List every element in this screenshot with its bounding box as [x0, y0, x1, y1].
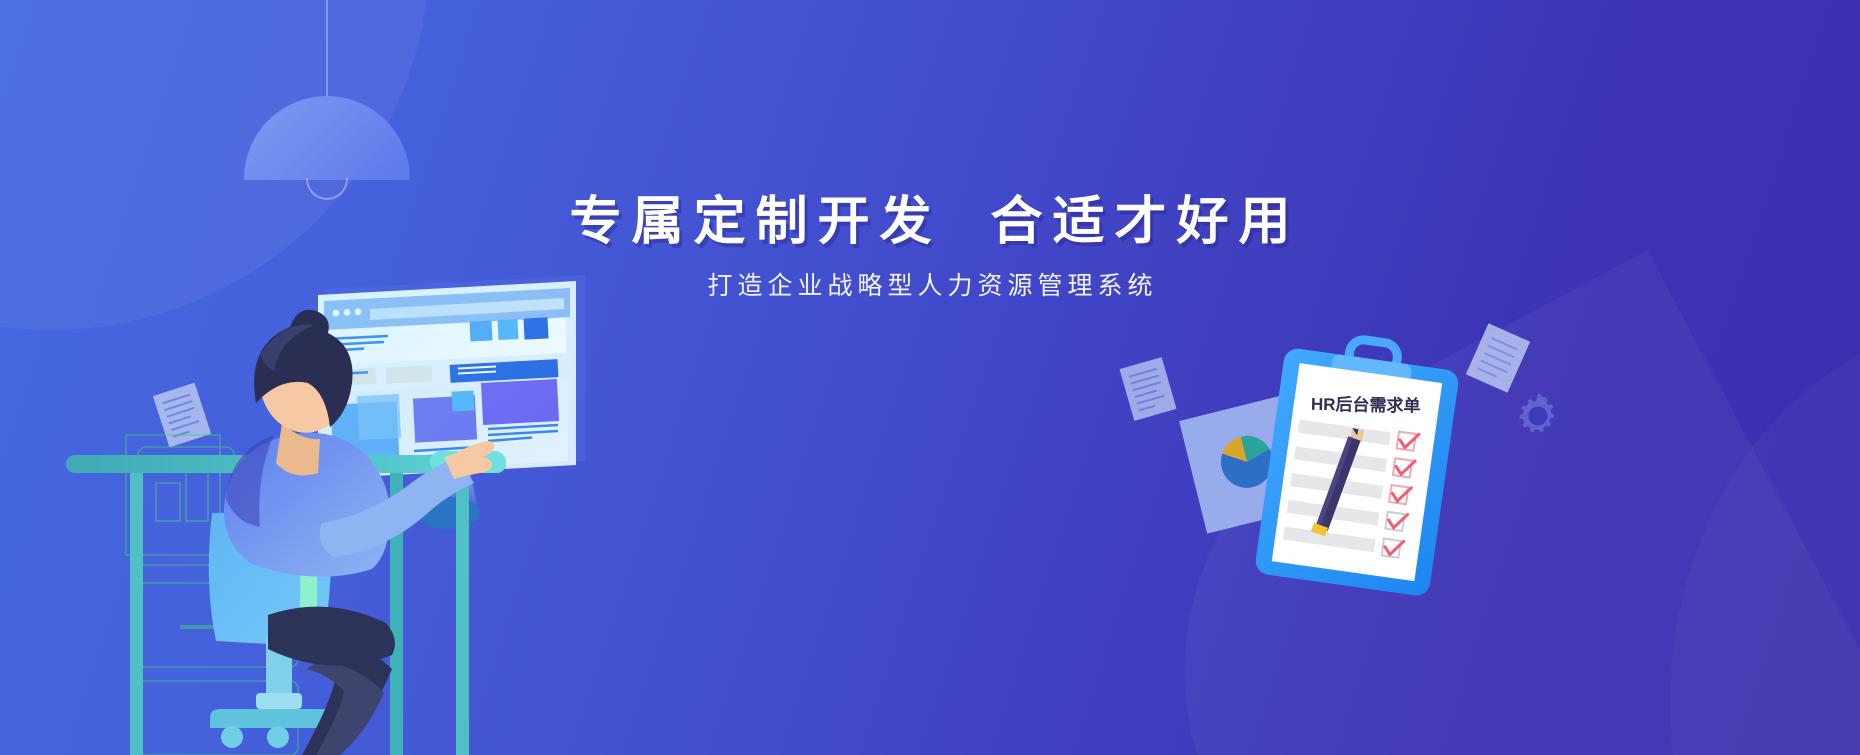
hero-banner: 专属定制开发 合适才好用 打造企业战略型人力资源管理系统 [0, 0, 1860, 755]
floating-paper-icon [1119, 357, 1176, 421]
hero-copy: 专属定制开发 合适才好用 打造企业战略型人力资源管理系统 [0, 196, 1860, 299]
clipboard: HR后台需求单 [1254, 329, 1463, 597]
illustration-hr-clipboard: HR后台需求单 [1180, 330, 1540, 630]
hanging-lamp-icon [244, 0, 410, 196]
lamp-shade [244, 96, 410, 180]
clipboard-title: HR后台需求单 [1311, 394, 1421, 416]
lamp-cord [326, 0, 328, 100]
illustration-developer-at-desk [60, 255, 660, 755]
hero-subheadline: 打造企业战略型人力资源管理系统 [0, 274, 1860, 299]
hero-headline: 专属定制开发 合适才好用 [0, 196, 1860, 248]
